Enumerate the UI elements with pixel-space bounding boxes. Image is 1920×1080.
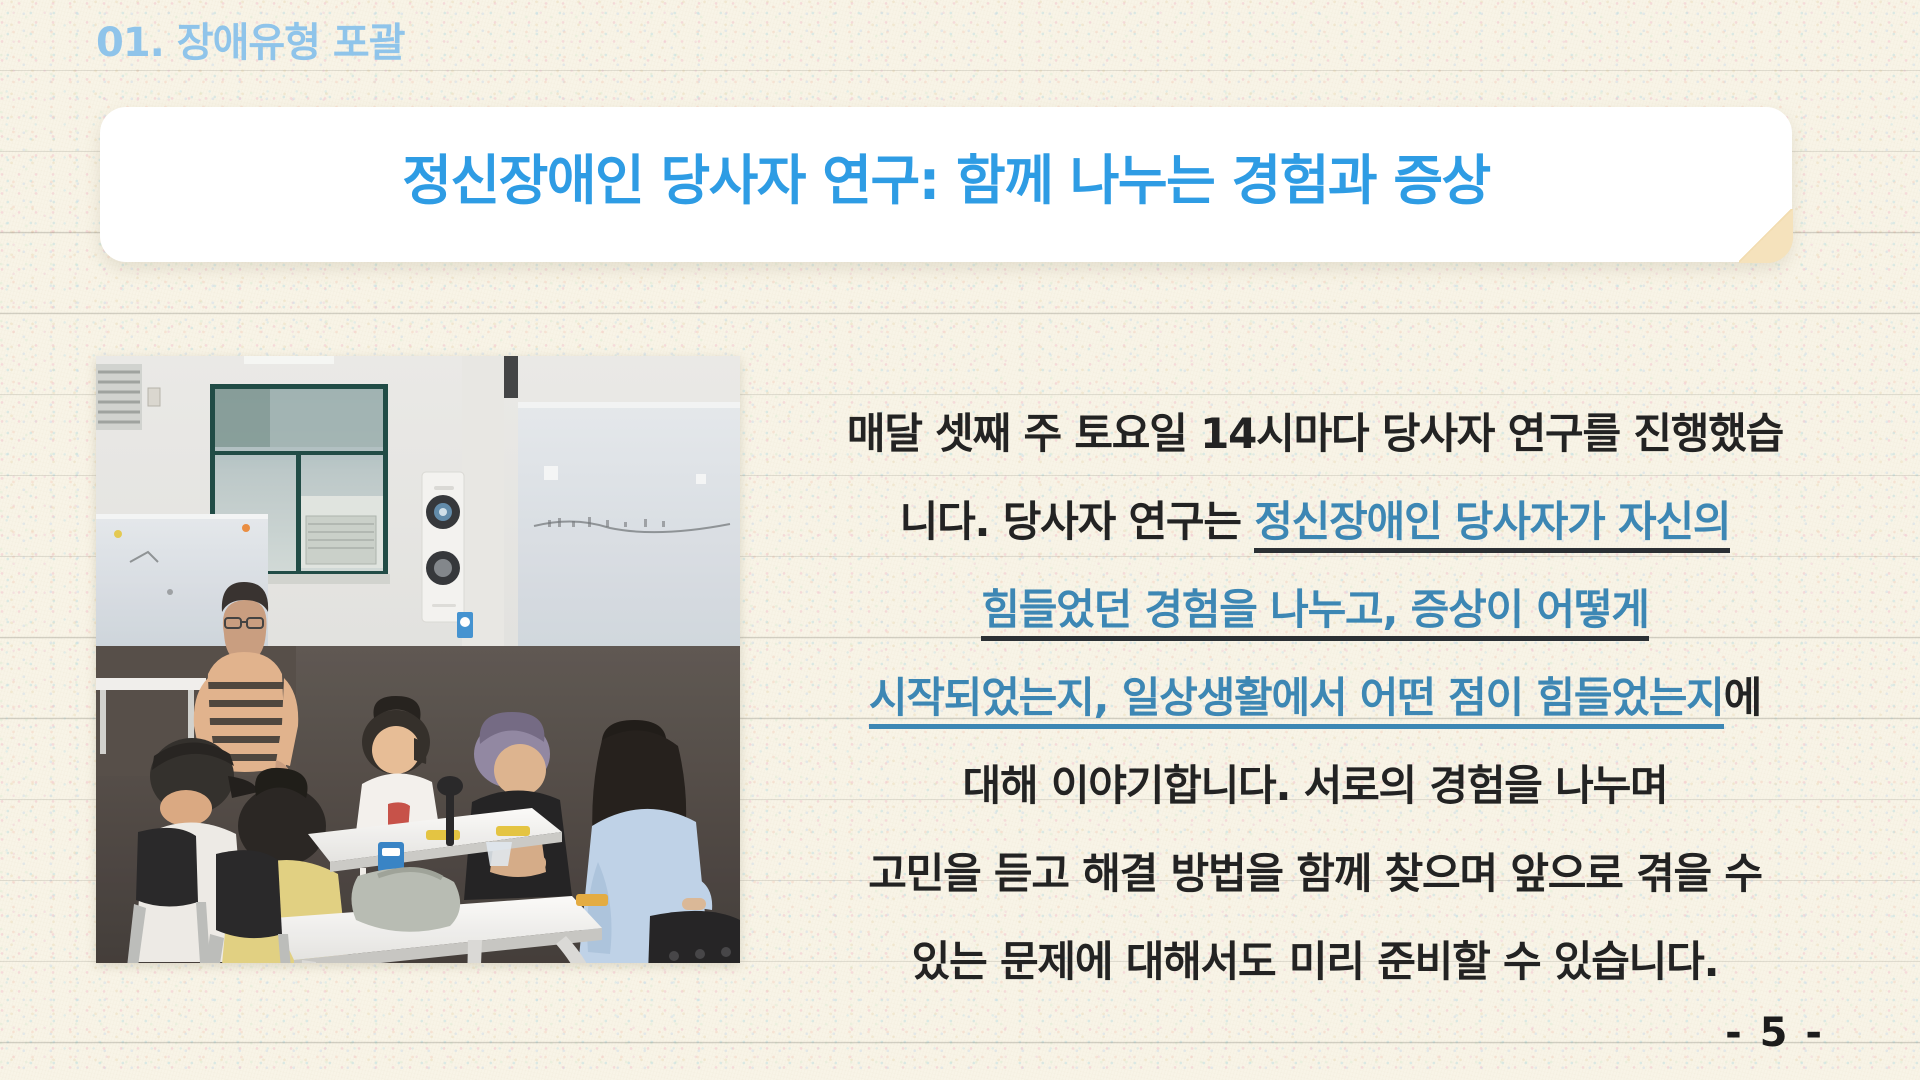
- body-line-2: 니다. 당사자 연구는 정신장애인 당사자가 자신의: [790, 478, 1840, 566]
- page-title: 정신장애인 당사자 연구: 함께 나누는 경험과 증상: [100, 107, 1792, 262]
- body-line-5: 대해 이야기합니다. 서로의 경험을 나누며: [790, 742, 1840, 830]
- body-line-4-highlight: 시작되었는지, 일상생활에서 어떤 점이 힘들었는지: [869, 673, 1724, 729]
- body-line-1: 매달 셋째 주 토요일 14시마다 당사자 연구를 진행했습: [790, 390, 1840, 478]
- body-line-5-seg-1: 대해 이야기합니다. 서로의 경험을 나누며: [963, 761, 1668, 810]
- body-line-6-seg-1: 고민을 듣고 해결 방법을 함께 찾으며 앞으로 겪을 수: [868, 849, 1762, 898]
- slide-canvas: 01. 장애유형 포괄 정신장애인 당사자 연구: 함께 나누는 경험과 증상: [0, 0, 1920, 1080]
- title-card: 정신장애인 당사자 연구: 함께 나누는 경험과 증상: [100, 107, 1792, 262]
- meeting-photo: [96, 356, 740, 963]
- body-line-3-highlight: 힘들었던 경험을 나누고, 증상이 어떻게: [981, 585, 1648, 641]
- body-line-2-seg-1: 니다. 당사자 연구는: [900, 497, 1255, 546]
- body-line-4-seg-2: 에: [1724, 673, 1761, 722]
- body-line-6: 고민을 듣고 해결 방법을 함께 찾으며 앞으로 겪을 수: [790, 830, 1840, 918]
- body-line-2-highlight: 정신장애인 당사자가 자신의: [1254, 497, 1730, 553]
- body-paragraph: 매달 셋째 주 토요일 14시마다 당사자 연구를 진행했습 니다. 당사자 연…: [790, 390, 1840, 1006]
- page-number: - 5 -: [1725, 1010, 1824, 1056]
- section-header-label: 01. 장애유형 포괄: [96, 10, 405, 68]
- body-line-1-seg-1: 매달 셋째 주 토요일 14시마다 당사자 연구를 진행했습: [847, 409, 1783, 458]
- body-line-4: 시작되었는지, 일상생활에서 어떤 점이 힘들었는지에: [790, 654, 1840, 742]
- body-line-7-seg-1: 있는 문제에 대해서도 미리 준비할 수 있습니다.: [912, 937, 1719, 986]
- body-line-7: 있는 문제에 대해서도 미리 준비할 수 있습니다.: [790, 918, 1840, 1006]
- meeting-photo-illustration: [96, 356, 740, 963]
- page-fold-corner-icon: [1739, 209, 1793, 263]
- body-line-3: 힘들었던 경험을 나누고, 증상이 어떻게: [790, 566, 1840, 654]
